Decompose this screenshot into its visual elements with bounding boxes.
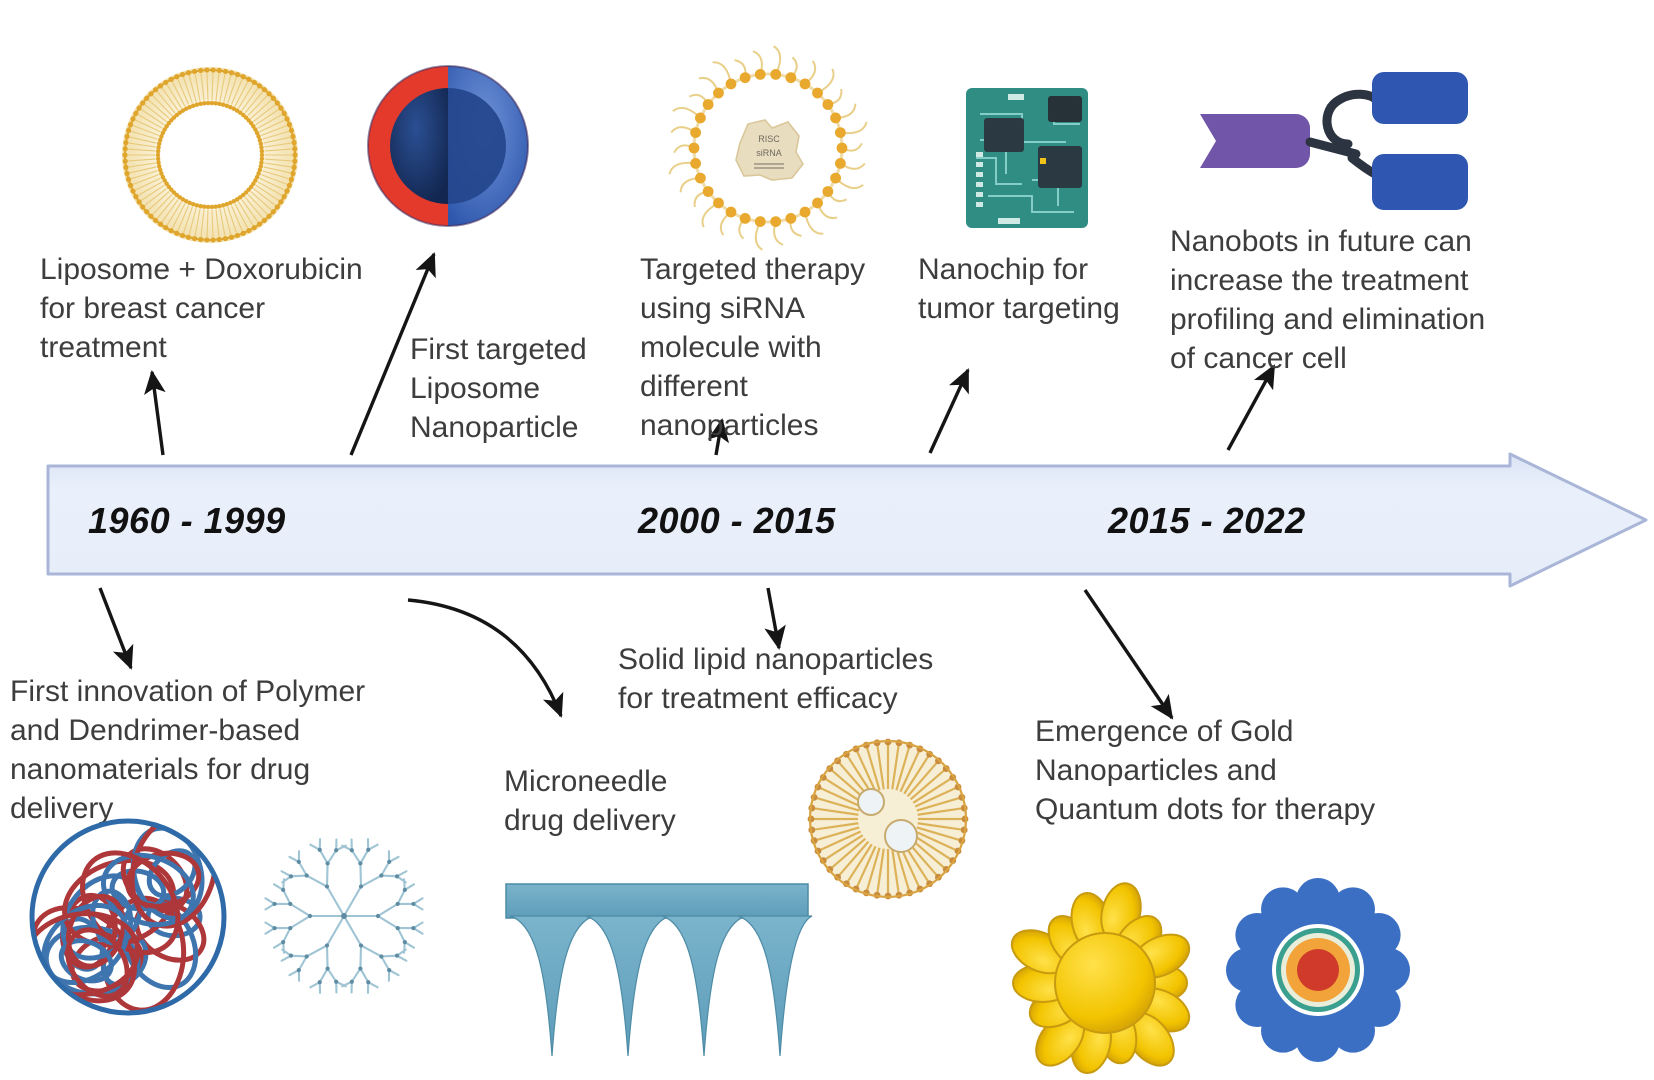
polymer-nanomaterial-icon [28, 812, 228, 1022]
label-first-targeted-liposome: First targeted Liposome Nanoparticle [410, 330, 640, 447]
arrow-to-polymer-label [100, 588, 131, 668]
sirna-nanoparticle-icon: RISC siRNA [668, 48, 868, 248]
microneedle-patch-icon [500, 880, 814, 1080]
dendrimer-icon [236, 808, 452, 1024]
gold-nanoparticle-icon [1008, 886, 1202, 1080]
label-liposome-doxorubicin: Liposome + Doxorubicin for breast cancer… [40, 250, 410, 367]
quantum-dot-icon [1224, 876, 1412, 1064]
label-nanobots: Nanobots in future can increase the trea… [1170, 222, 1500, 378]
liposome-icon [112, 62, 308, 248]
solid-lipid-nanoparticle-icon [793, 724, 983, 914]
timeline-period-1: 1960 - 1999 [88, 500, 286, 542]
timeline-figure: RISC siRNA [0, 0, 1654, 1080]
timeline-period-3: 2015 - 2022 [1108, 500, 1306, 542]
timeline-period-2: 2000 - 2015 [638, 500, 836, 542]
arrow-to-liposome-label [152, 372, 163, 455]
arrow-to-gold-quantum-label [1085, 590, 1172, 718]
targeted-liposome-nanoparticle-icon [363, 58, 533, 238]
arrow-to-nanochip-label [930, 370, 968, 453]
label-solid-lipid: Solid lipid nanoparticles for treatment … [618, 640, 968, 718]
label-targeted-sirna: Targeted therapy using siRNA molecule wi… [640, 250, 890, 445]
sirna-inner-label-2: siRNA [756, 148, 782, 158]
label-gold-quantum: Emergence of Gold Nanoparticles and Quan… [1035, 712, 1415, 829]
label-nanochip: Nanochip for tumor targeting [918, 250, 1138, 328]
arrow-to-microneedle-label [408, 600, 561, 716]
label-microneedle: Microneedle drug delivery [504, 762, 724, 840]
nanochip-icon [962, 84, 1092, 232]
arrow-to-solid-lipid-label [768, 588, 779, 648]
arrow-to-nanobots-label [1228, 366, 1274, 450]
nanobot-icon [1176, 58, 1468, 222]
sirna-inner-label-1: RISC [758, 134, 780, 144]
label-polymer-dendrimer: First innovation of Polymer and Dendrime… [10, 672, 410, 828]
